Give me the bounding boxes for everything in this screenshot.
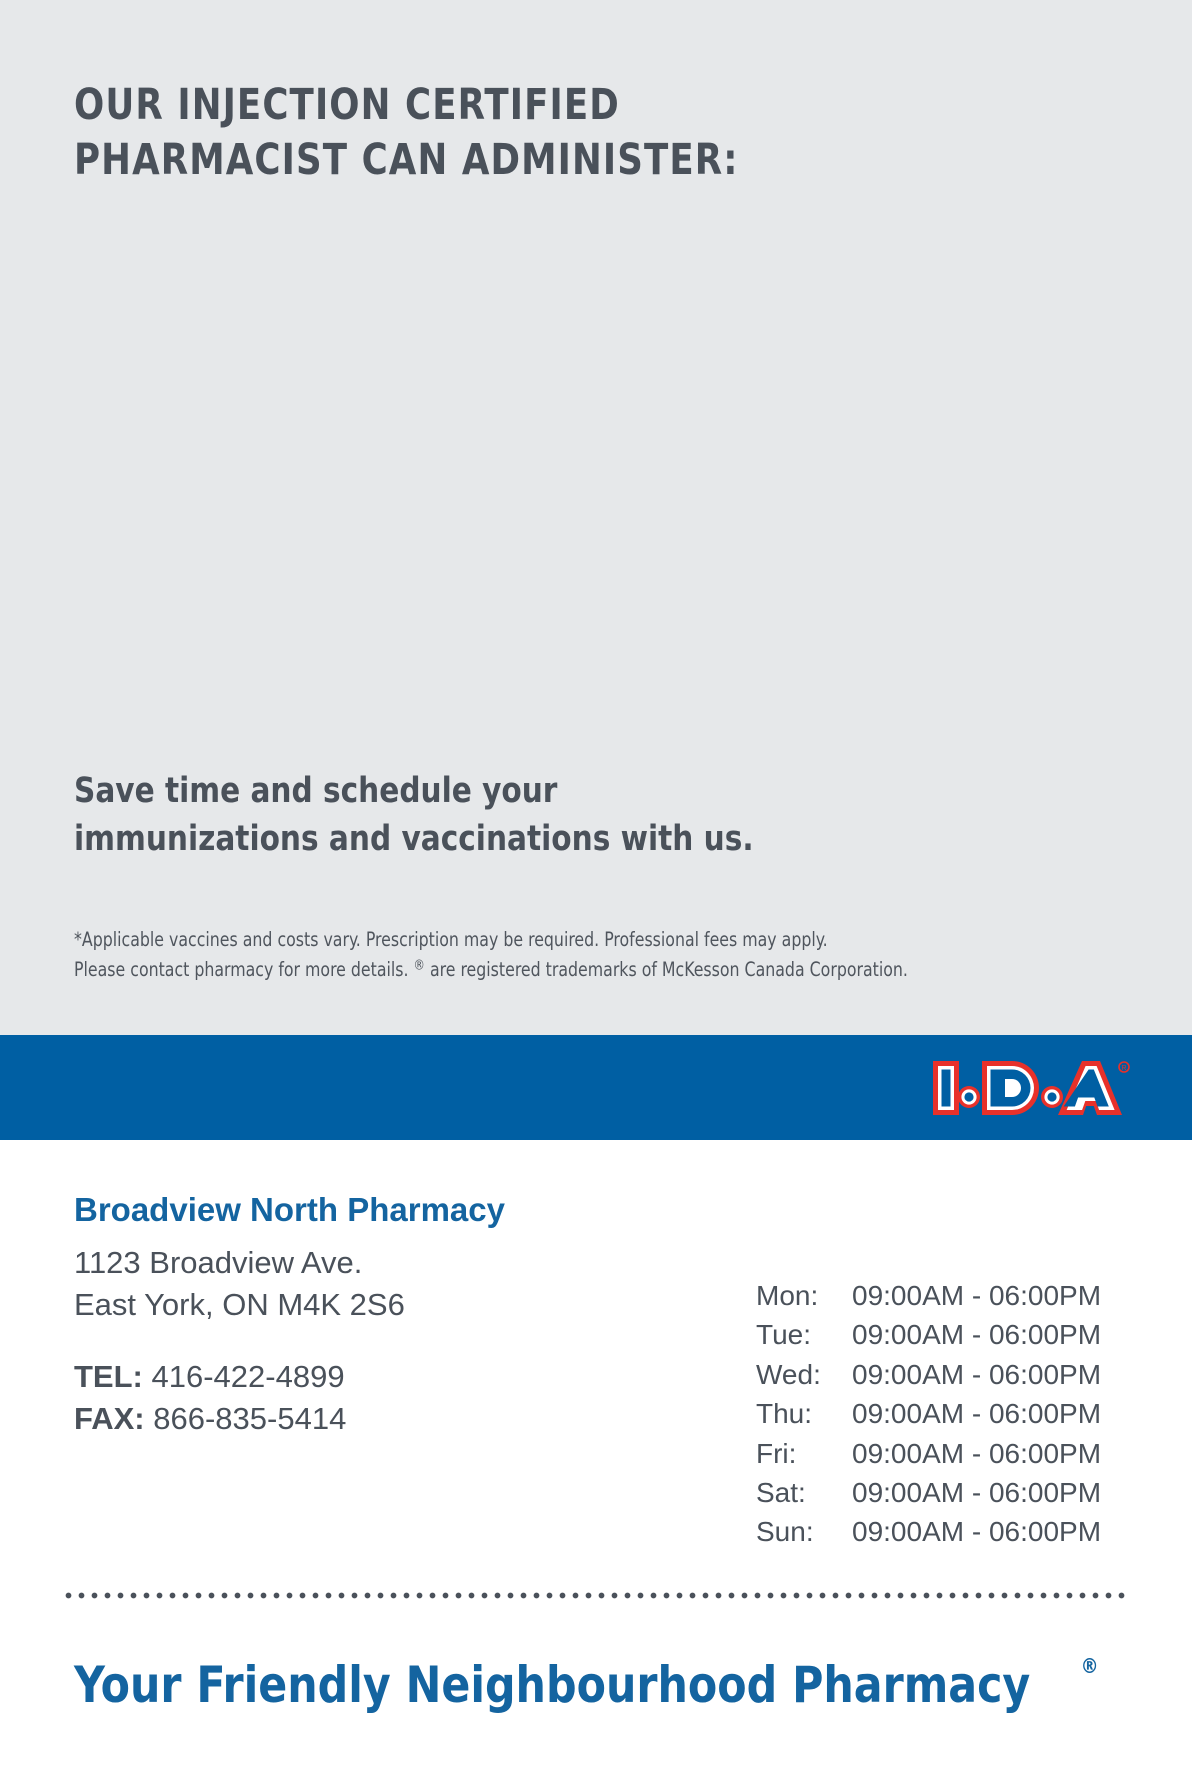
brand-bar: R [0,1035,1192,1140]
store-info: Broadview North Pharmacy 1123 Broadview … [74,1190,714,1440]
registered-mark-icon: ® [414,958,425,974]
fine-print-line-2: Please contact pharmacy for more details… [74,955,1028,985]
fax-row: FAX: 866-835-5414 [74,1398,714,1440]
store-hours-table: Mon: 09:00AM - 06:00PM Tue: 09:00AM - 06… [756,1278,1136,1554]
hours-day-label: Sat: [756,1475,852,1511]
hours-row: Mon: 09:00AM - 06:00PM [756,1278,1136,1314]
subhead-line-1: Save time and schedule your [74,768,939,816]
hours-day-label: Thu: [756,1396,852,1432]
fax-value: 866-835-5414 [153,1401,346,1436]
hours-time-value: 09:00AM - 06:00PM [852,1357,1136,1393]
fine-print-line-2-before: Please contact pharmacy for more details… [74,958,414,981]
hours-time-value: 09:00AM - 06:00PM [852,1278,1136,1314]
telephone-label: TEL: [74,1359,143,1394]
fine-print-line-1: *Applicable vaccines and costs vary. Pre… [74,925,1028,955]
hours-day-label: Wed: [756,1357,852,1393]
tagline: Your Friendly Neighbourhood Pharmacy® [74,1655,1144,1713]
hours-day-label: Sun: [756,1514,852,1550]
tagline-text: Your Friendly Neighbourhood Pharmacy [74,1658,1030,1713]
page-title: OUR INJECTION CERTIFIED PHARMACIST CAN A… [74,78,974,188]
hours-day-label: Mon: [756,1278,852,1314]
subhead-line-2: immunizations and vaccinations with us. [74,816,939,864]
store-address: 1123 Broadview Ave. East York, ON M4K 2S… [74,1242,714,1326]
subheadline: Save time and schedule your immunization… [74,768,994,863]
dotted-divider [62,1592,1126,1599]
hours-row: Sun: 09:00AM - 06:00PM [756,1514,1136,1550]
ida-logo-icon: R [930,1057,1130,1119]
telephone-value[interactable]: 416-422-4899 [152,1359,345,1394]
hours-time-value: 09:00AM - 06:00PM [852,1475,1136,1511]
fax-label: FAX: [74,1401,145,1436]
fine-print-disclaimer: *Applicable vaccines and costs vary. Pre… [74,925,1134,985]
hours-time-value: 09:00AM - 06:00PM [852,1396,1136,1432]
hours-time-value: 09:00AM - 06:00PM [852,1436,1136,1472]
hours-row: Wed: 09:00AM - 06:00PM [756,1357,1136,1393]
svg-text:R: R [1121,1065,1126,1072]
pharmacy-flyer: OUR INJECTION CERTIFIED PHARMACIST CAN A… [0,0,1192,1785]
headline-line-2: PHARMACIST CAN ADMINISTER: [74,133,902,188]
registered-mark-icon: ® [1081,1654,1099,1678]
hours-day-label: Tue: [756,1317,852,1353]
hours-row: Tue: 09:00AM - 06:00PM [756,1317,1136,1353]
fine-print-line-2-after: are registered trademarks of McKesson Ca… [425,958,908,981]
store-address-line-2: East York, ON M4K 2S6 [74,1284,714,1326]
top-gray-panel: OUR INJECTION CERTIFIED PHARMACIST CAN A… [0,0,1192,1035]
hours-time-value: 09:00AM - 06:00PM [852,1514,1136,1550]
headline-line-1: OUR INJECTION CERTIFIED [74,78,902,133]
telephone-row: TEL: 416-422-4899 [74,1356,714,1398]
hours-row: Fri: 09:00AM - 06:00PM [756,1436,1136,1472]
hours-row: Sat: 09:00AM - 06:00PM [756,1475,1136,1511]
hours-time-value: 09:00AM - 06:00PM [852,1317,1136,1353]
store-address-line-1: 1123 Broadview Ave. [74,1242,714,1284]
store-contact: TEL: 416-422-4899 FAX: 866-835-5414 [74,1356,714,1440]
hours-day-label: Fri: [756,1436,852,1472]
store-name: Broadview North Pharmacy [74,1190,714,1230]
hours-row: Thu: 09:00AM - 06:00PM [756,1396,1136,1432]
